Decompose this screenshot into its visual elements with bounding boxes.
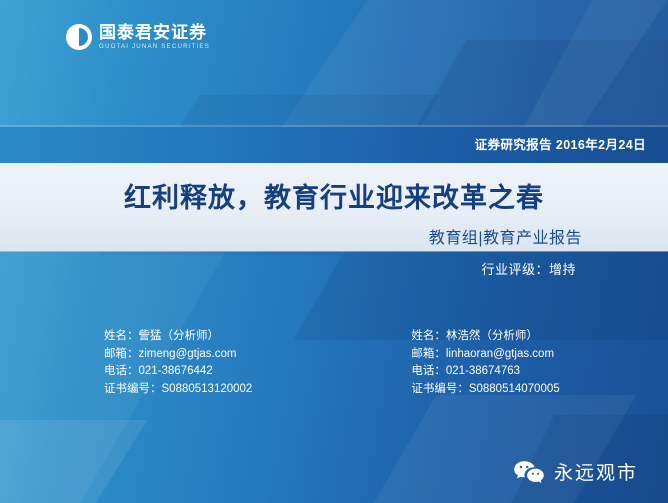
brand-name-en: GUOTAI JUNAN SECURITIES bbox=[99, 44, 210, 50]
analyst-cert: 证书编号：S0880513120002 bbox=[104, 381, 252, 399]
analyst-email: 邮箱：zimeng@gtjas.com bbox=[104, 346, 252, 364]
analyst-cert: 证书编号：S0880514070005 bbox=[411, 381, 559, 399]
report-meta-text: 证券研究报告 2016年2月24日 bbox=[475, 134, 646, 153]
decorative-polygon bbox=[344, 395, 636, 503]
presentation-slide: 国泰君安证券 GUOTAI JUNAN SECURITIES 证券研究报告 20… bbox=[0, 0, 668, 503]
brand-name-cn: 国泰君安证券 bbox=[99, 24, 210, 41]
page-title: 红利释放，教育行业迎来改革之春 bbox=[0, 176, 668, 215]
wechat-icon bbox=[513, 460, 545, 484]
wechat-label: 永远观市 bbox=[554, 458, 638, 485]
brand-logo: 国泰君安证券 GUOTAI JUNAN SECURITIES bbox=[66, 24, 210, 50]
analyst-name: 姓名：訾猛（分析师） bbox=[104, 328, 252, 346]
decorative-polygon bbox=[0, 420, 147, 503]
analyst-name: 姓名：林浩然（分析师） bbox=[411, 328, 559, 346]
wechat-footer: 永远观市 bbox=[513, 458, 638, 485]
analyst-phone: 电话：021-38674763 bbox=[411, 363, 559, 381]
brand-logo-text: 国泰君安证券 GUOTAI JUNAN SECURITIES bbox=[99, 24, 210, 50]
background-decoration bbox=[0, 0, 668, 503]
analyst-contacts: 姓名：訾猛（分析师） 邮箱：zimeng@gtjas.com 电话：021-38… bbox=[104, 328, 560, 398]
analyst-email: 邮箱：linhaoran@gtjas.com bbox=[411, 346, 559, 364]
analyst-block: 姓名：林浩然（分析师） 邮箱：linhaoran@gtjas.com 电话：02… bbox=[411, 328, 559, 398]
analyst-phone: 电话：021-38676442 bbox=[104, 363, 252, 381]
industry-rating: 行业评级：增持 bbox=[481, 259, 576, 278]
page-subtitle: 教育组|教育产业报告 bbox=[429, 224, 582, 248]
analyst-block: 姓名：訾猛（分析师） 邮箱：zimeng@gtjas.com 电话：021-38… bbox=[104, 328, 252, 398]
circle-yin-yang-icon bbox=[66, 24, 92, 50]
